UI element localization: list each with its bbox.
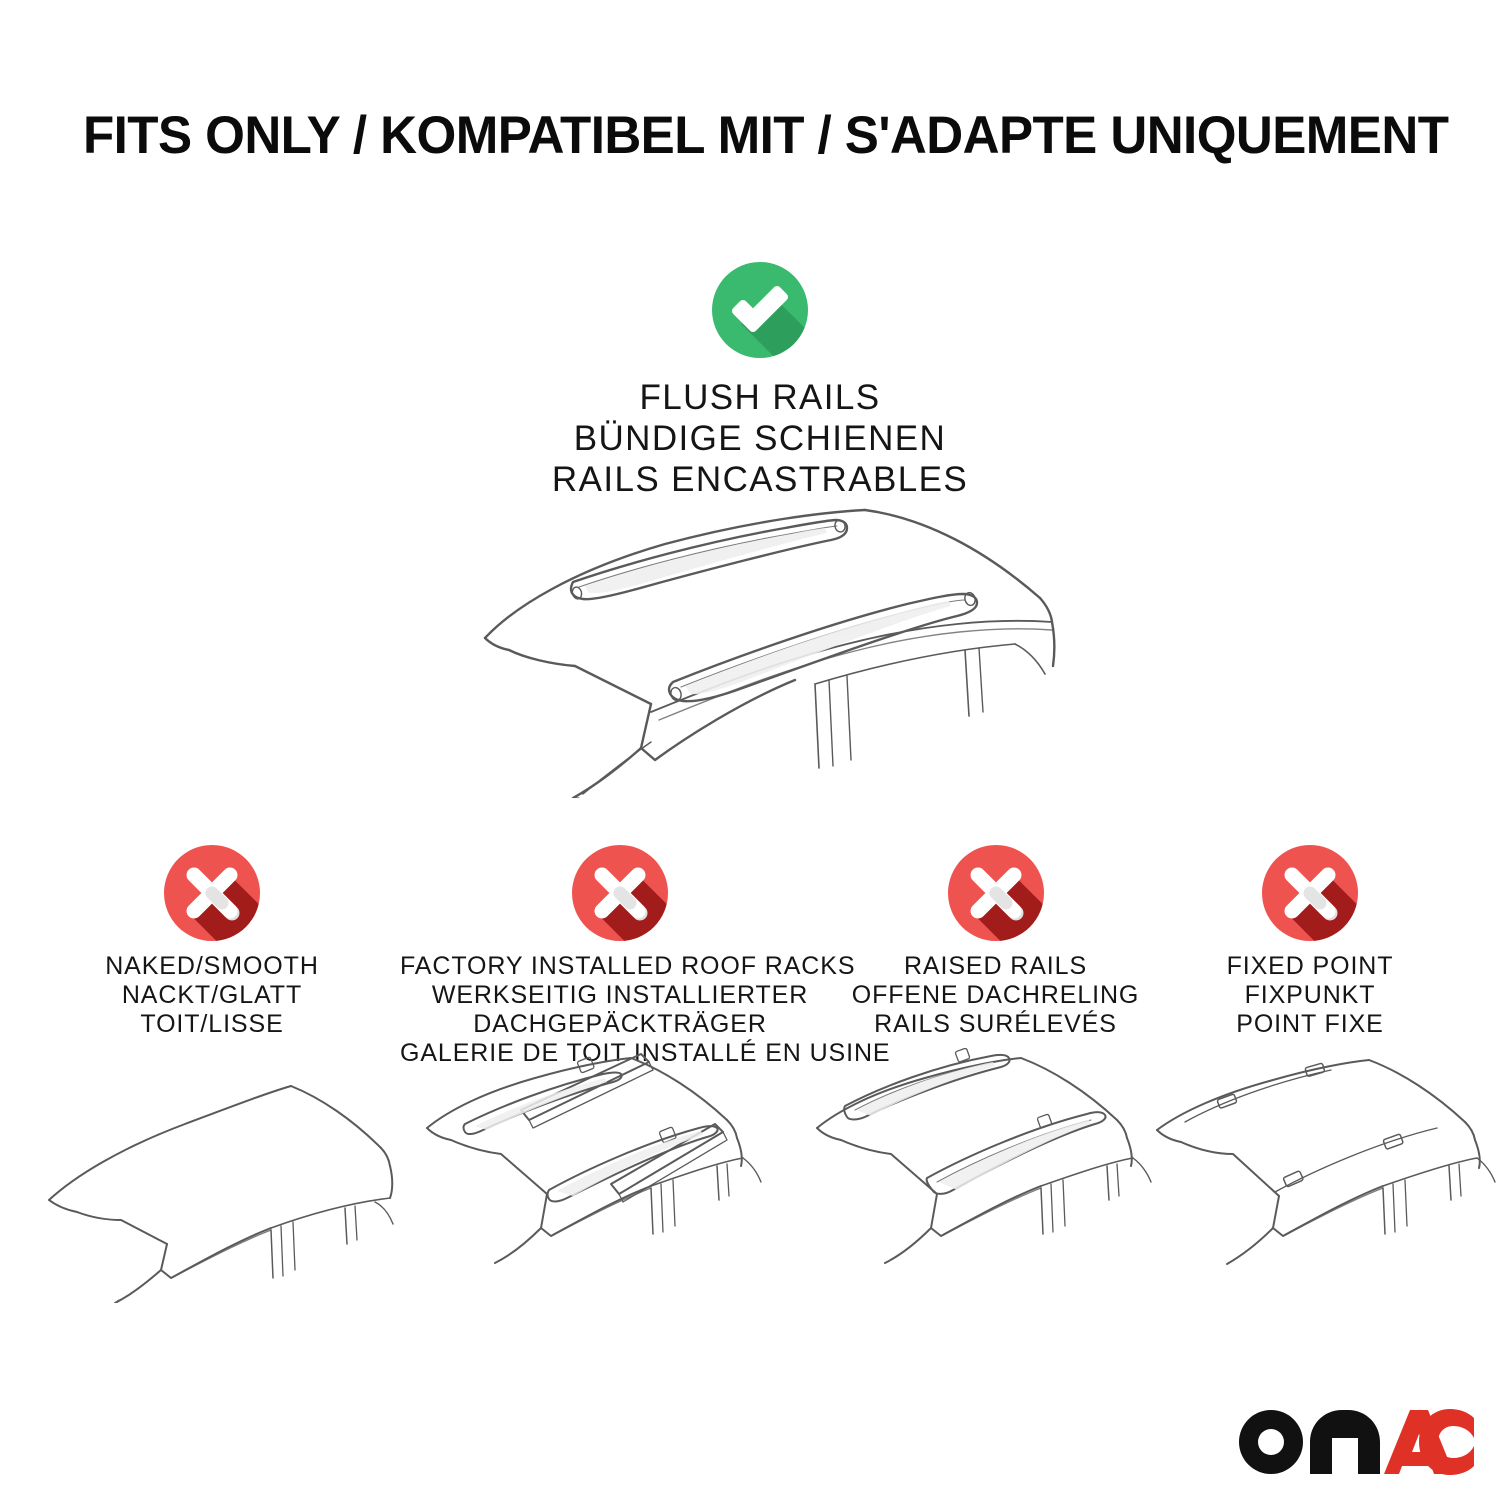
cross-circle-icon	[948, 845, 1044, 941]
incompatible-label-fr: POINT FIXE	[1160, 1010, 1460, 1039]
incompatible-item-naked-smooth: NAKED/SMOOTH NACKT/GLATT TOIT/LISSE	[42, 845, 382, 1039]
incompatible-label-de: NACKT/GLATT	[42, 981, 382, 1010]
cross-circle-icon	[164, 845, 260, 941]
car-roof-bare-illustration	[45, 1048, 415, 1303]
incompatible-item-raised-rails: RAISED RAILS OFFENE DACHRELING RAILS SUR…	[838, 845, 1153, 1039]
compatible-section: FLUSH RAILS BÜNDIGE SCHIENEN RAILS ENCAS…	[380, 262, 1140, 500]
incompatible-label-en: FACTORY INSTALLED ROOF RACKS	[400, 952, 840, 981]
incompatible-label-fr: RAILS SURÉLEVÉS	[838, 1010, 1153, 1039]
car-roof-with-raised-rails-illustration	[815, 1048, 1185, 1303]
incompatible-item-factory-installed-roof-racks: FACTORY INSTALLED ROOF RACKS WERKSEITIG …	[400, 845, 840, 1068]
car-roof-with-fixed-points-illustration	[1155, 1048, 1500, 1303]
cross-circle-icon	[1262, 845, 1358, 941]
incompatible-labels: NAKED/SMOOTH NACKT/GLATT TOIT/LISSE	[42, 952, 382, 1039]
omac-logo	[1238, 1404, 1474, 1480]
cross-mark-glyph	[572, 845, 668, 941]
compatible-labels: FLUSH RAILS BÜNDIGE SCHIENEN RAILS ENCAS…	[380, 377, 1140, 500]
incompatible-label-de-1: WERKSEITIG INSTALLIERTER	[400, 981, 840, 1010]
incompatible-label-en: FIXED POINT	[1160, 952, 1460, 981]
cross-mark-glyph	[1262, 845, 1358, 941]
incompatible-label-en: NAKED/SMOOTH	[42, 952, 382, 981]
flush-rails-illustration	[455, 498, 1065, 798]
compatible-label-de: BÜNDIGE SCHIENEN	[380, 418, 1140, 459]
incompatible-label-de-2: DACHGEPÄCKTRÄGER	[400, 1010, 840, 1039]
cross-circle-icon	[572, 845, 668, 941]
compatible-label-fr: RAILS ENCASTRABLES	[380, 459, 1140, 500]
incompatible-label-fr: TOIT/LISSE	[42, 1010, 382, 1039]
page-title: FITS ONLY / KOMPATIBEL MIT / S'ADAPTE UN…	[83, 105, 1376, 167]
car-roof-with-crossbars-illustration	[425, 1048, 795, 1303]
incompatible-item-fixed-point: FIXED POINT FIXPUNKT POINT FIXE	[1160, 845, 1460, 1039]
incompatible-label-en: RAISED RAILS	[838, 952, 1153, 981]
incompatible-badges-row: NAKED/SMOOTH NACKT/GLATT TOIT/LISSE	[0, 845, 1500, 1045]
check-mark-glyph	[712, 262, 808, 358]
compatible-label-en: FLUSH RAILS	[380, 377, 1140, 418]
cross-mark-glyph	[164, 845, 260, 941]
incompatible-label-de: OFFENE DACHRELING	[838, 981, 1153, 1010]
incompatible-labels: FIXED POINT FIXPUNKT POINT FIXE	[1160, 952, 1460, 1039]
incompatible-labels: RAISED RAILS OFFENE DACHRELING RAILS SUR…	[838, 952, 1153, 1039]
compatibility-infographic: FITS ONLY / KOMPATIBEL MIT / S'ADAPTE UN…	[0, 0, 1500, 1500]
cross-mark-glyph	[948, 845, 1044, 941]
incompatible-illustrations-row	[0, 1048, 1500, 1303]
check-circle-icon	[712, 262, 808, 358]
incompatible-label-de: FIXPUNKT	[1160, 981, 1460, 1010]
